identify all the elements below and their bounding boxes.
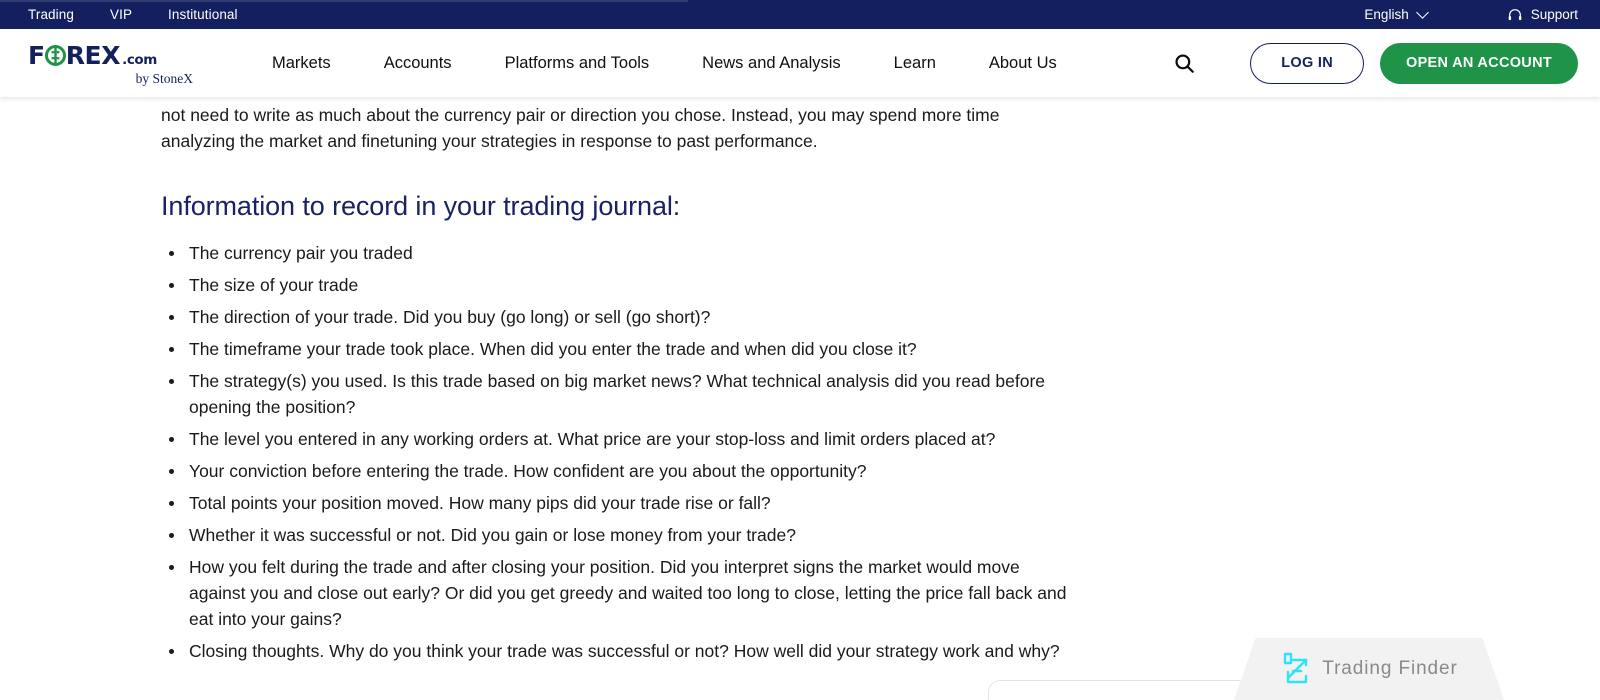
- page-body: not need to write as much about the curr…: [0, 97, 1600, 700]
- list-item: How you felt during the trade and after …: [161, 555, 1071, 632]
- chevron-down-icon: [1418, 7, 1429, 18]
- nav-item-learn[interactable]: Learn: [894, 48, 936, 79]
- main-header: F REX .com by StoneX Markets Accounts Pl…: [0, 29, 1600, 97]
- list-item: Closing thoughts. Why do you think your …: [161, 639, 1071, 665]
- logo-wordmark: F REX .com: [28, 43, 157, 68]
- support-link[interactable]: Support: [1507, 7, 1578, 23]
- logo-dotcom: .com: [122, 54, 157, 68]
- header-actions: LOG IN OPEN AN ACCOUNT: [1164, 43, 1578, 84]
- journal-checklist: The currency pair you traded The size of…: [161, 241, 1071, 664]
- nav-item-about-us[interactable]: About Us: [989, 48, 1057, 79]
- utility-right-group: English Support: [1364, 7, 1578, 23]
- logo-letters-rex: REX: [66, 43, 120, 68]
- open-account-button[interactable]: OPEN AN ACCOUNT: [1380, 43, 1578, 84]
- site-logo[interactable]: F REX .com by StoneX: [28, 41, 194, 86]
- search-icon: [1173, 52, 1196, 75]
- watermark-label: Trading Finder: [1322, 658, 1457, 680]
- utility-link-vip[interactable]: VIP: [110, 7, 132, 22]
- list-item: Total points your position moved. How ma…: [161, 491, 1071, 517]
- nav-item-accounts[interactable]: Accounts: [384, 48, 452, 79]
- utility-link-institutional[interactable]: Institutional: [168, 7, 238, 22]
- search-button[interactable]: [1164, 43, 1204, 83]
- list-item: The size of your trade: [161, 273, 1071, 299]
- logo-tagline: by StoneX: [136, 72, 193, 86]
- list-item: The timeframe your trade took place. Whe…: [161, 337, 1071, 363]
- utility-link-trading[interactable]: Trading: [28, 7, 74, 22]
- list-item: The level you entered in any working ord…: [161, 427, 1071, 453]
- intro-paragraph: not need to write as much about the curr…: [161, 103, 1071, 154]
- nav-item-markets[interactable]: Markets: [272, 48, 331, 79]
- headset-icon: [1507, 7, 1523, 23]
- scroll-progress-indicator: [0, 0, 688, 2]
- nav-item-platforms-and-tools[interactable]: Platforms and Tools: [505, 48, 650, 79]
- trading-finder-watermark: Trading Finder: [1234, 638, 1504, 700]
- list-item: Whether it was successful or not. Did yo…: [161, 523, 1071, 549]
- login-button[interactable]: LOG IN: [1250, 43, 1364, 84]
- logo-letter-f: F: [28, 43, 45, 68]
- utility-bar: Trading VIP Institutional English Suppor…: [0, 0, 1600, 29]
- language-label: English: [1364, 7, 1408, 22]
- utility-links: Trading VIP Institutional: [28, 7, 238, 22]
- nav-item-news-and-analysis[interactable]: News and Analysis: [702, 48, 841, 79]
- page-title: Information to record in your trading jo…: [161, 191, 1071, 222]
- list-item: The strategy(s) you used. Is this trade …: [161, 369, 1071, 420]
- list-item: The currency pair you traded: [161, 241, 1071, 267]
- trading-finder-logo-icon: [1280, 652, 1310, 686]
- logo-globe-icon: [45, 45, 66, 66]
- article-content: not need to write as much about the curr…: [161, 97, 1071, 664]
- main-navigation: Markets Accounts Platforms and Tools New…: [272, 48, 1057, 79]
- list-item: Your conviction before entering the trad…: [161, 459, 1071, 485]
- list-item: The direction of your trade. Did you buy…: [161, 305, 1071, 331]
- language-selector[interactable]: English: [1364, 7, 1428, 22]
- support-label: Support: [1531, 7, 1578, 22]
